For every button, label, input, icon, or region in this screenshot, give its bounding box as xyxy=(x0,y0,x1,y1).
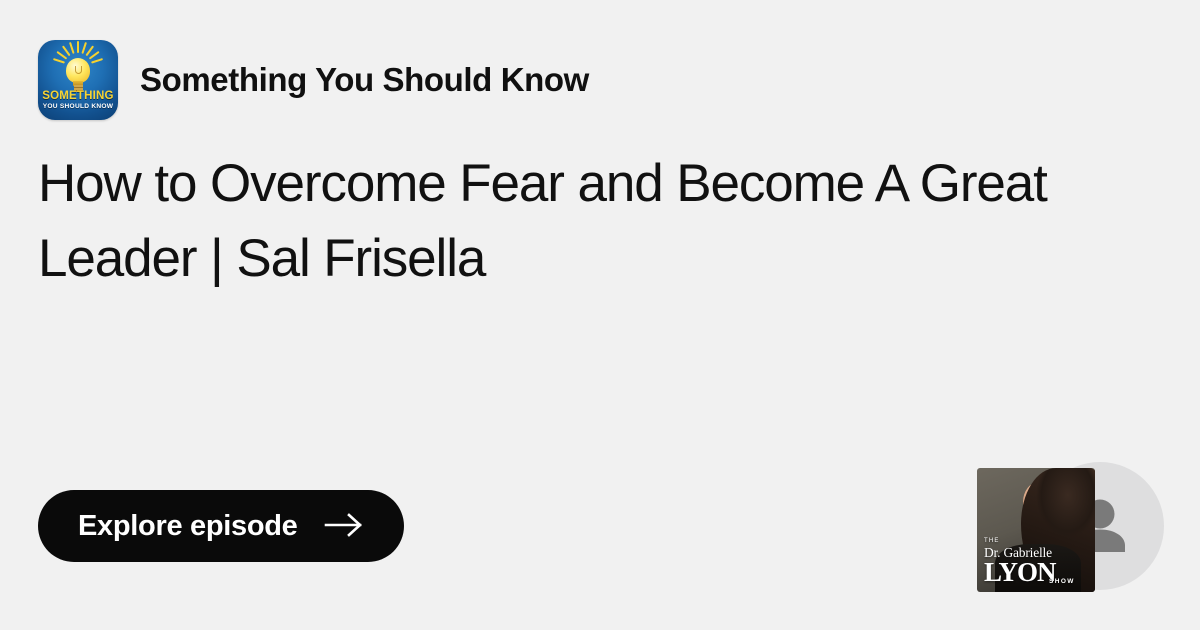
artwork-cluster: THE Dr. Gabrielle LYON SHOW xyxy=(1032,462,1164,594)
show-name: Something You Should Know xyxy=(140,61,589,99)
thumbnail-line-lyon: LYON xyxy=(984,559,1056,586)
thumbnail-line-show: SHOW xyxy=(1049,578,1075,585)
logo-wordmark-primary: SOMETHING xyxy=(38,90,118,102)
show-header: SOMETHING YOU SHOULD KNOW Something You … xyxy=(38,40,1162,120)
arrow-right-icon xyxy=(324,512,364,541)
thumbnail-line-the: THE xyxy=(984,538,1000,544)
lightbulb-filament-icon xyxy=(75,66,82,74)
explore-episode-button[interactable]: Explore episode xyxy=(38,490,404,562)
logo-wordmark-secondary: YOU SHOULD KNOW xyxy=(38,103,118,110)
show-logo: SOMETHING YOU SHOULD KNOW xyxy=(38,40,118,120)
podcast-thumbnail: THE Dr. Gabrielle LYON SHOW xyxy=(977,468,1095,592)
explore-episode-label: Explore episode xyxy=(78,510,298,543)
page-title: How to Overcome Fear and Become A Great … xyxy=(38,146,1158,297)
episode-share-card: SOMETHING YOU SHOULD KNOW Something You … xyxy=(0,0,1200,630)
